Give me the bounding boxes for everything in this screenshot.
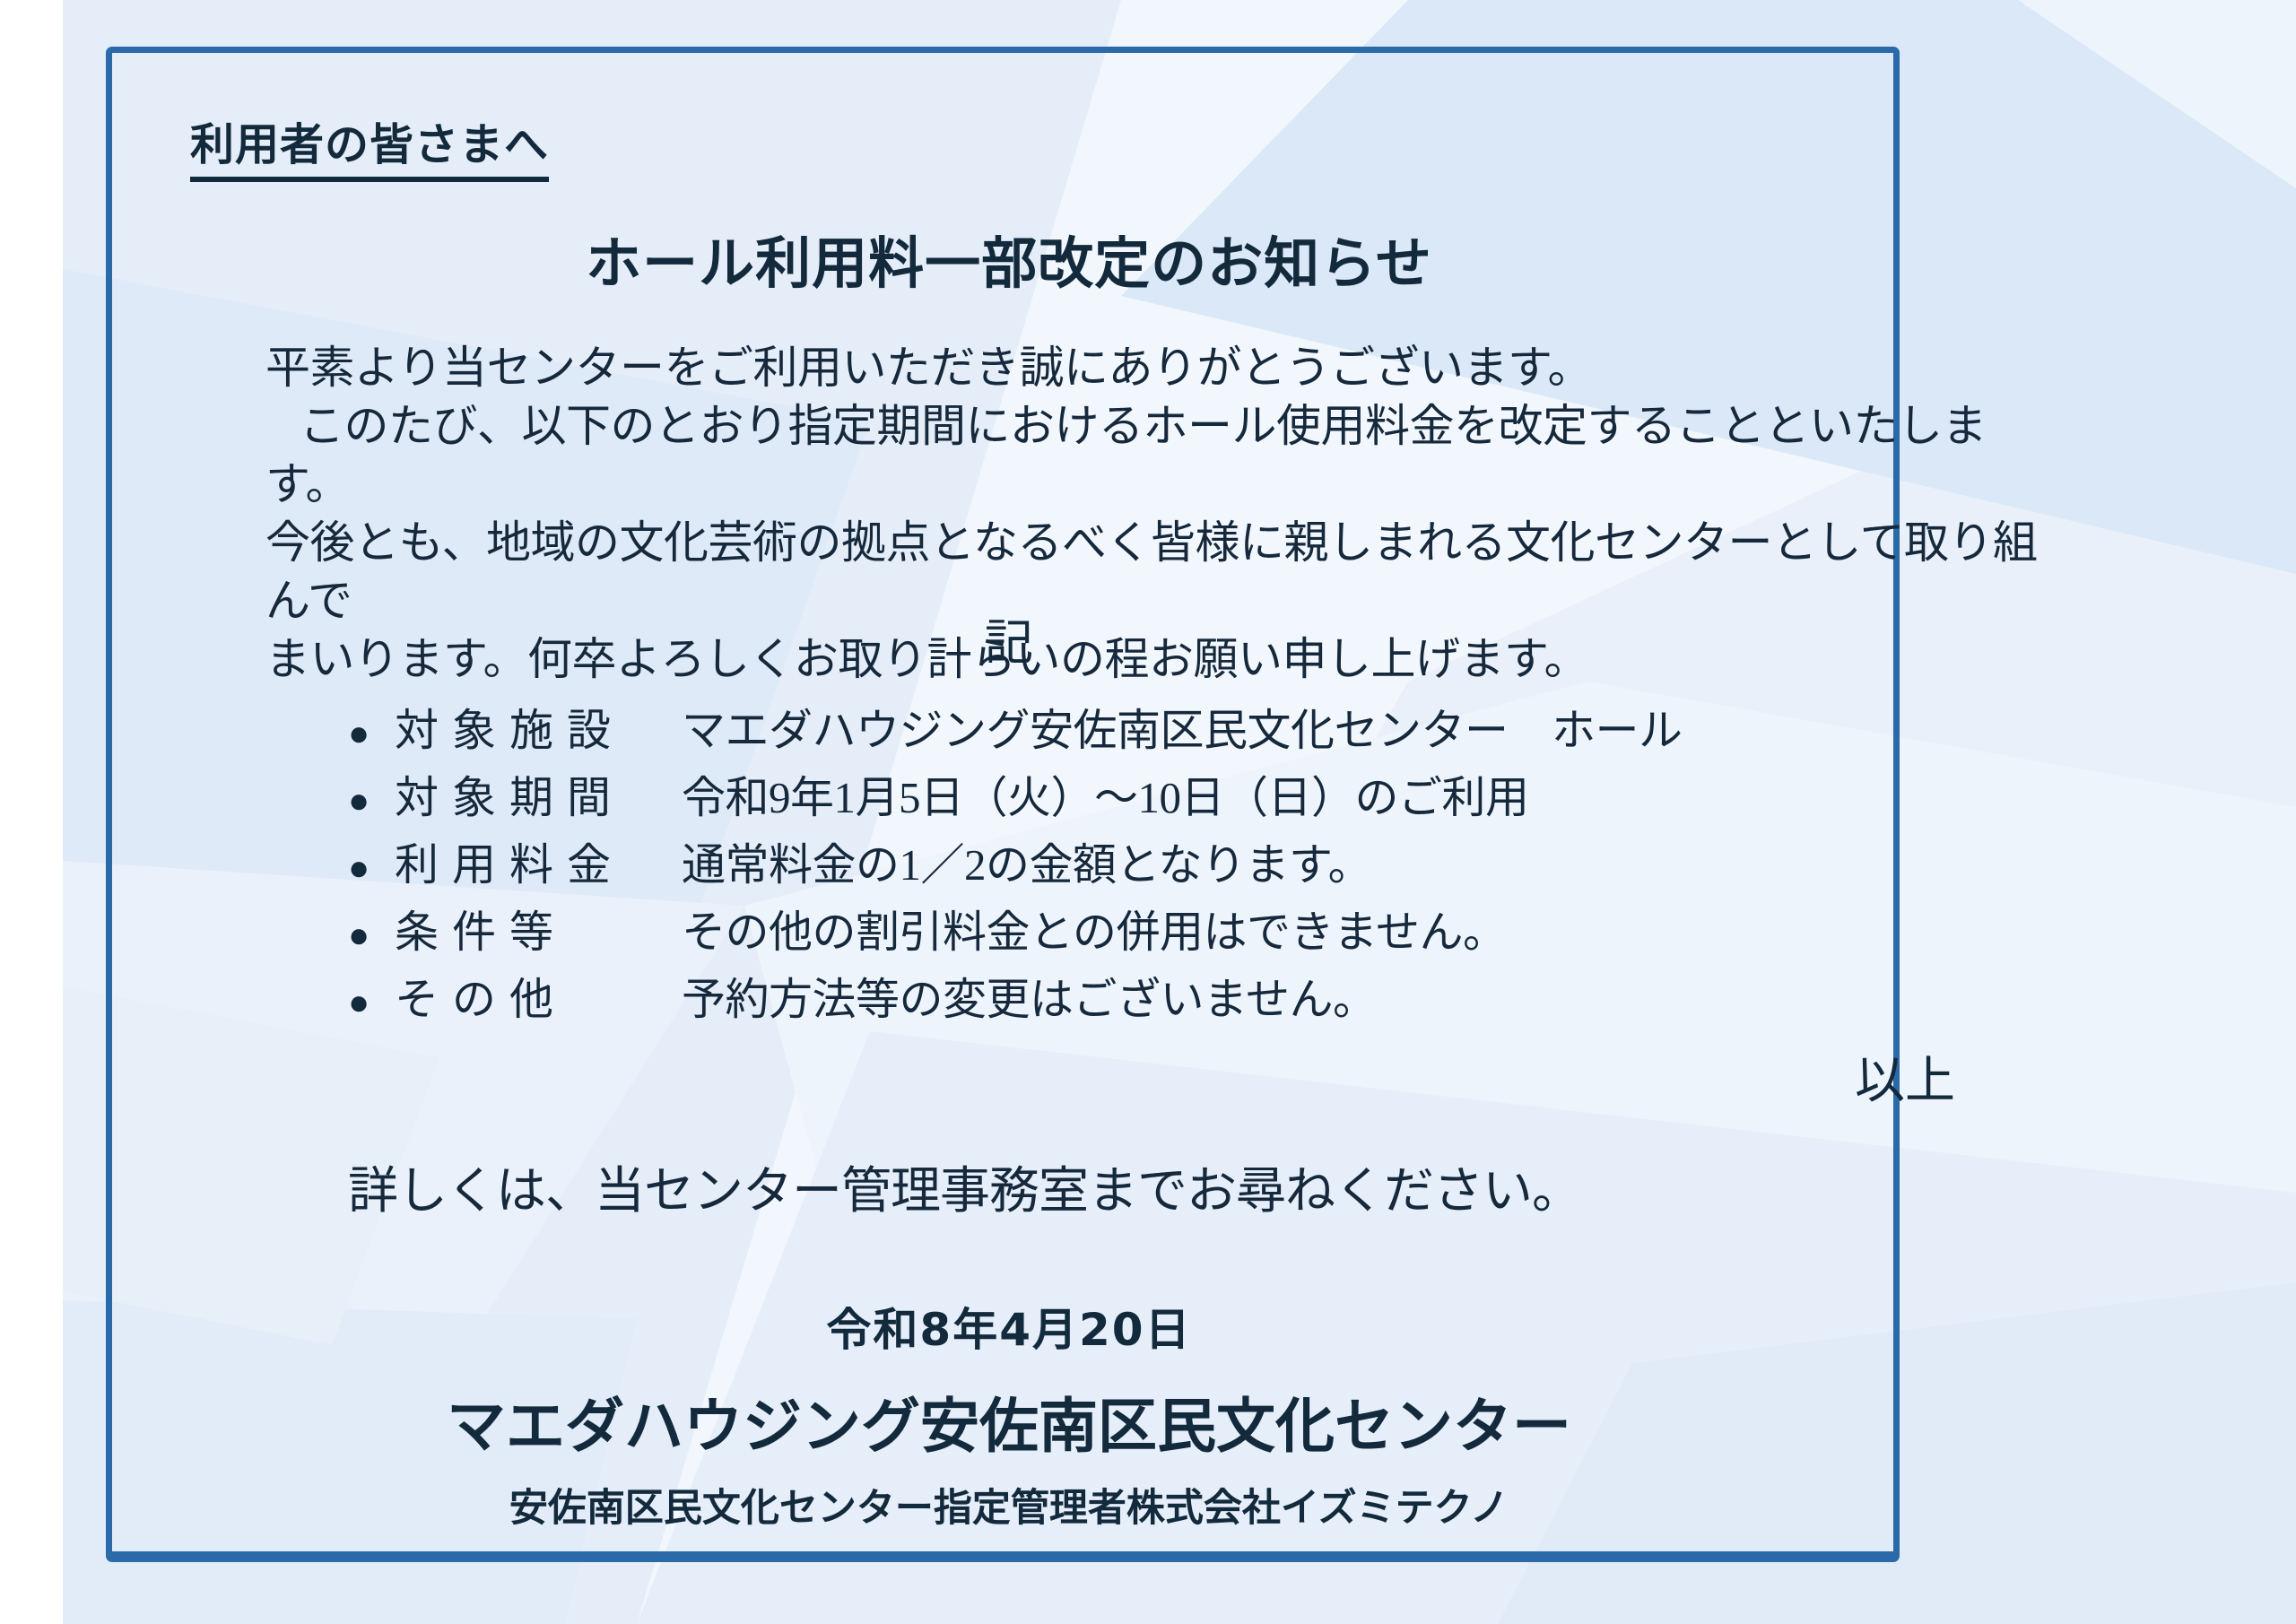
detail-label-fee: 利用料金: [395, 829, 682, 893]
issue-date: 令和8年4月20日: [0, 1294, 2018, 1359]
bullet-icon: ●: [348, 716, 395, 751]
detail-value-facility: マエダハウジング安佐南区民文化センター ホール: [682, 695, 1962, 759]
detail-label-period: 対象期間: [395, 762, 682, 826]
list-item: ● 対象施設 マエダハウジング安佐南区民文化センター ホール: [348, 695, 1962, 762]
body-line-2: このたび、以下のとおり指定期間におけるホール使用料金を改定することといたします。: [265, 397, 2068, 514]
detail-label-conditions: 条件等: [395, 897, 682, 960]
inquiry-line: 詳しくは、当センター管理事務室までお尋ねください。: [348, 1151, 1581, 1223]
detail-value-conditions: その他の割引料金との併用はできません。: [682, 897, 1962, 960]
bullet-icon: ●: [348, 985, 395, 1020]
list-item: ● その他 予約方法等の変更はございません。: [348, 964, 1962, 1031]
detail-value-other: 予約方法等の変更はございません。: [682, 964, 1962, 1028]
bullet-icon: ●: [348, 783, 395, 819]
detail-label-facility: 対象施設: [395, 695, 682, 759]
organization-name: マエダハウジング安佐南区民文化センター: [0, 1378, 2018, 1464]
addressee-heading: 利用者の皆さまへ: [190, 122, 549, 182]
list-item: ● 対象期間 令和9年1月5日（火）〜10日（日）のご利用: [348, 762, 1962, 829]
list-item: ● 利用料金 通常料金の1／2の金額となります。: [348, 829, 1962, 897]
ki-mark: 記: [0, 603, 2018, 673]
detail-label-other: その他: [395, 964, 682, 1028]
notice-page: 利用者の皆さまへ ホール利用料一部改定のお知らせ 平素より当センターをご利用いた…: [0, 0, 2296, 1624]
detail-value-fee: 通常料金の1／2の金額となります。: [682, 829, 1962, 893]
detail-list: ● 対象施設 マエダハウジング安佐南区民文化センター ホール ● 対象期間 令和…: [348, 695, 1962, 1031]
footer-block: 令和8年4月20日 マエダハウジング安佐南区民文化センター 安佐南区民文化センタ…: [0, 1294, 2018, 1533]
ijou-mark: 以上: [0, 1040, 1955, 1113]
list-item: ● 条件等 その他の割引料金との併用はできません。: [348, 897, 1962, 964]
detail-value-period: 令和9年1月5日（火）〜10日（日）のご利用: [682, 762, 1962, 826]
operator-name: 安佐南区民文化センター指定管理者株式会社イズミテクノ: [0, 1477, 2018, 1533]
bullet-icon: ●: [348, 850, 395, 886]
page-title: ホール利用料一部改定のお知らせ: [0, 218, 2018, 299]
bullet-icon: ●: [348, 917, 395, 953]
body-line-1: 平素より当センターをご利用いただき誠にありがとうございます。: [265, 339, 2068, 397]
